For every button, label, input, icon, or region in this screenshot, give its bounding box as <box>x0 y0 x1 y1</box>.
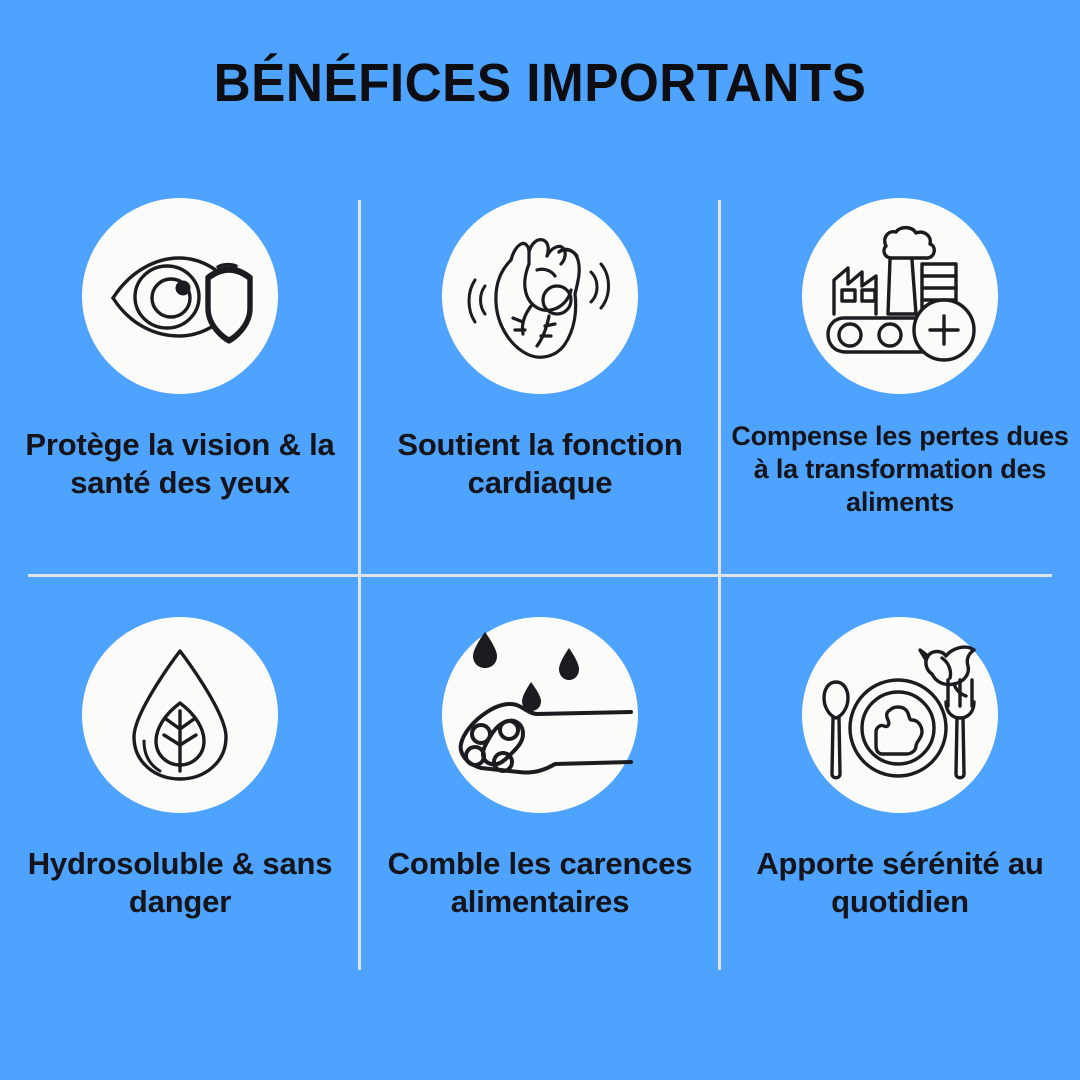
icon-container-1 <box>82 198 278 394</box>
page-title: BÉNÉFICES IMPORTANTS <box>27 52 1053 114</box>
benefit-caption-4: Hydrosoluble & sans danger <box>15 845 345 922</box>
icon-container-6 <box>802 617 998 813</box>
benefit-card-3: Compense les pertes dues à la transforma… <box>720 170 1080 585</box>
heart-pulse-icon <box>465 226 615 366</box>
benefit-caption-6: Apporte sérénité au quotidien <box>735 845 1065 922</box>
hand-pills-drops-icon <box>445 630 635 800</box>
plate-puzzle-dove-icon <box>820 640 980 790</box>
benefit-caption-5: Comble les carences alimentaires <box>375 845 705 922</box>
benefit-caption-3: Compense les pertes dues à la transforma… <box>730 420 1070 519</box>
water-drop-leaf-icon <box>122 645 238 785</box>
benefit-caption-2: Soutient la fonction cardiaque <box>375 426 705 503</box>
benefit-card-5: Comble les carences alimentaires <box>360 585 720 1000</box>
eye-shield-icon <box>105 236 255 356</box>
icon-container-5 <box>442 617 638 813</box>
factory-plus-icon <box>824 226 976 366</box>
icon-container-4 <box>82 617 278 813</box>
divider-vertical-right <box>718 200 721 970</box>
benefit-card-1: Protège la vision & la santé des yeux <box>0 170 360 585</box>
benefit-card-2: Soutient la fonction cardiaque <box>360 170 720 585</box>
icon-container-2 <box>442 198 638 394</box>
benefits-grid: Protège la vision & la santé des yeux <box>0 170 1080 1000</box>
divider-vertical-left <box>358 200 361 970</box>
benefit-card-6: Apporte sérénité au quotidien <box>720 585 1080 1000</box>
benefit-caption-1: Protège la vision & la santé des yeux <box>15 426 345 503</box>
icon-container-3 <box>802 198 998 394</box>
benefit-card-4: Hydrosoluble & sans danger <box>0 585 360 1000</box>
divider-horizontal <box>28 574 1052 577</box>
